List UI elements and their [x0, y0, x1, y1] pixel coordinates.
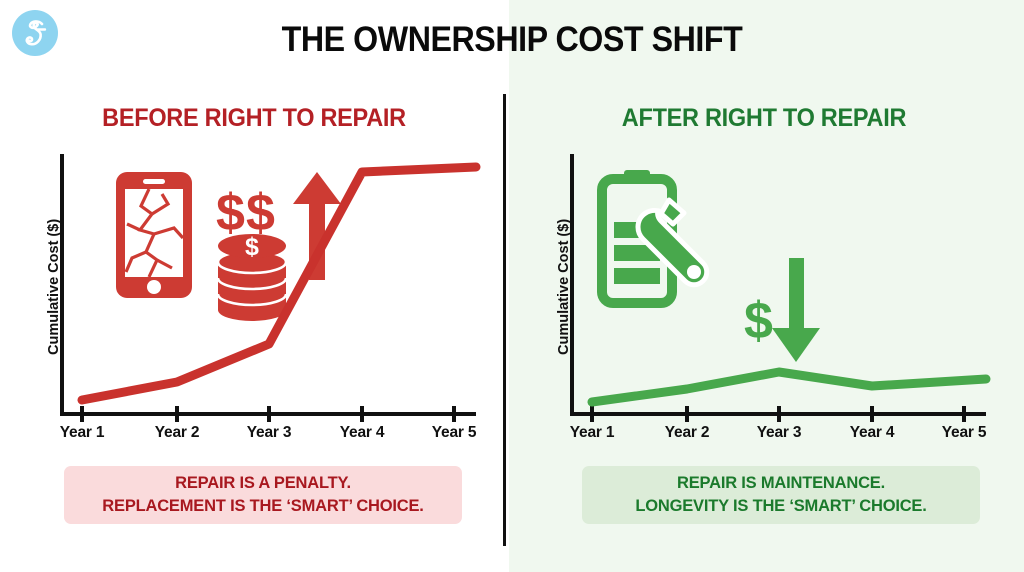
right-caption-box: REPAIR IS MAINTENANCE. LONGEVITY IS THE …: [582, 466, 980, 524]
right-y-axis-title: Cumulative Cost ($): [556, 219, 572, 355]
battery-wrench-icon: [602, 170, 707, 303]
right-x-tick-year-5: Year 5: [942, 424, 986, 442]
left-y-axis-title: Cumulative Cost ($): [46, 219, 62, 355]
panel-divider: [503, 94, 506, 546]
left-x-tick-year-1: Year 1: [60, 424, 104, 442]
down-arrow-icon: [772, 258, 820, 362]
left-caption-line-1: REPAIR IS A PENALTY.: [175, 472, 351, 495]
after-cost-line: [592, 372, 986, 402]
right-x-tick-year-1: Year 1: [570, 424, 614, 442]
right-x-tick-year-4: Year 4: [850, 424, 894, 442]
right-x-tick-year-3: Year 3: [757, 424, 801, 442]
svg-text:$: $: [245, 233, 259, 261]
left-x-tick-year-2: Year 2: [155, 424, 199, 442]
before-chart: $ $ $: [24, 150, 484, 450]
cracked-phone-icon: [116, 172, 192, 298]
left-x-tick-year-4: Year 4: [340, 424, 384, 442]
right-panel-heading: AFTER RIGHT TO REPAIR: [548, 104, 980, 133]
left-x-tick-year-5: Year 5: [432, 424, 476, 442]
after-chart: $: [534, 150, 994, 450]
right-caption-line-2: LONGEVITY IS THE ‘SMART’ CHOICE.: [635, 495, 926, 518]
left-x-tick-year-3: Year 3: [247, 424, 291, 442]
svg-text:$: $: [744, 292, 773, 350]
page-title: THE OWNERSHIP COST SHIFT: [41, 20, 983, 60]
right-x-tick-year-2: Year 2: [665, 424, 709, 442]
dollar-coins-icon: $ $ $: [216, 184, 286, 321]
dollar-sign-icon: $: [744, 292, 773, 350]
right-caption-line-1: REPAIR IS MAINTENANCE.: [677, 472, 885, 495]
infographic-root: THE OWNERSHIP COST SHIFT BEFORE RIGHT TO…: [0, 0, 1024, 572]
svg-text:$: $: [216, 184, 245, 242]
left-caption-line-2: REPLACEMENT IS THE ‘SMART’ CHOICE.: [102, 495, 423, 518]
left-caption-box: REPAIR IS A PENALTY. REPLACEMENT IS THE …: [64, 466, 462, 524]
left-panel-heading: BEFORE RIGHT TO REPAIR: [38, 104, 470, 133]
